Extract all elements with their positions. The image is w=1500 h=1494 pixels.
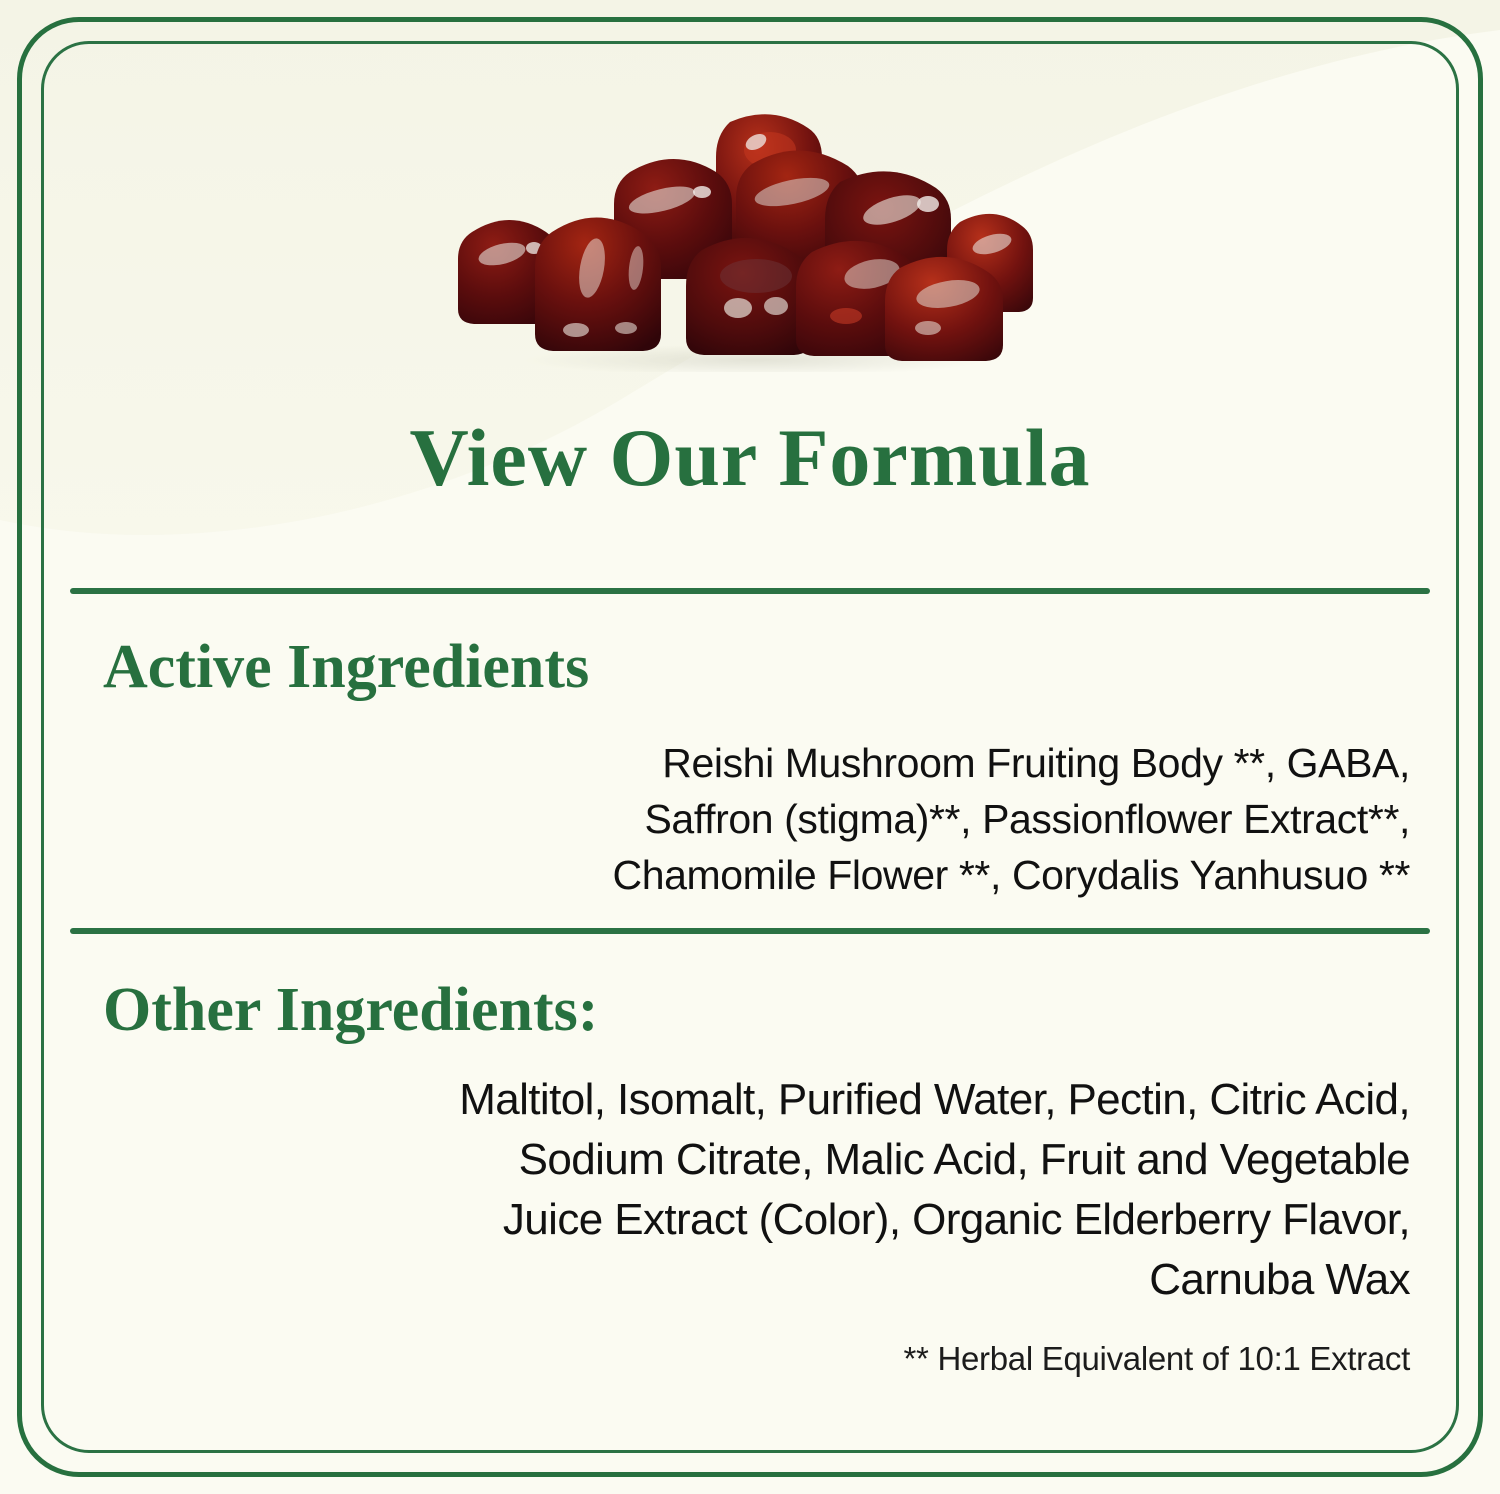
active-ingredients-line: Chamomile Flower **, Corydalis Yanhusuo … <box>330 847 1410 903</box>
formula-card: View Our Formula Active Ingredients Reis… <box>0 0 1500 1494</box>
gummies-photo <box>440 72 1060 372</box>
other-ingredients-line: Maltitol, Isomalt, Purified Water, Pecti… <box>200 1070 1410 1130</box>
page-title: View Our Formula <box>0 415 1500 501</box>
other-ingredients-line: Carnuba Wax <box>200 1250 1410 1310</box>
active-ingredients-heading: Active Ingredients <box>103 632 589 703</box>
divider-top <box>70 588 1430 594</box>
other-ingredients-list: Maltitol, Isomalt, Purified Water, Pecti… <box>200 1070 1410 1310</box>
footnote: ** Herbal Equivalent of 10:1 Extract <box>904 1340 1411 1378</box>
other-ingredients-line: Sodium Citrate, Malic Acid, Fruit and Ve… <box>200 1130 1410 1190</box>
divider-middle <box>70 928 1430 934</box>
other-ingredients-heading: Other Ingredients: <box>103 975 598 1046</box>
active-ingredients-line: Reishi Mushroom Fruiting Body **, GABA, <box>330 735 1410 791</box>
active-ingredients-line: Saffron (stigma)**, Passionflower Extrac… <box>330 791 1410 847</box>
other-ingredients-line: Juice Extract (Color), Organic Elderberr… <box>200 1190 1410 1250</box>
active-ingredients-list: Reishi Mushroom Fruiting Body **, GABA, … <box>330 735 1410 903</box>
